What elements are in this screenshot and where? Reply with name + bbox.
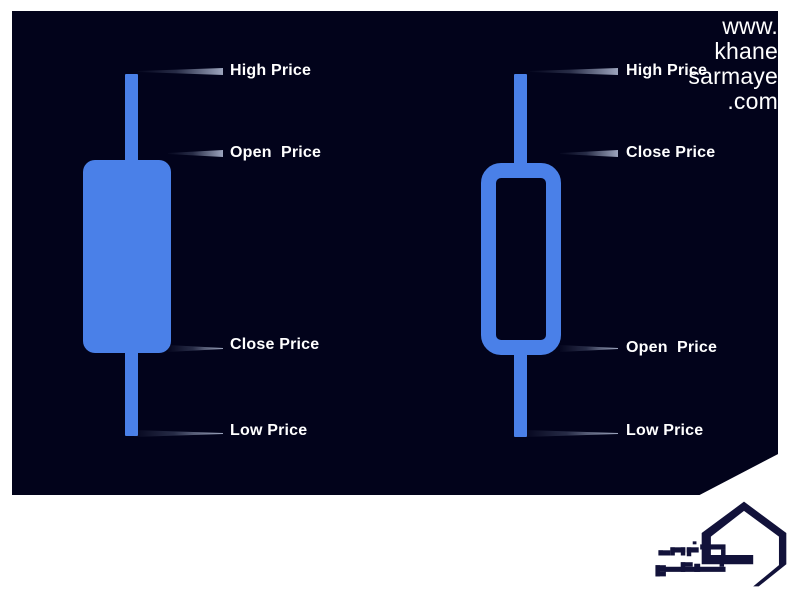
bullish-body <box>83 160 171 353</box>
label-open-price-right: Open Price <box>626 340 717 356</box>
bearish-body <box>481 163 561 355</box>
label-open-price-left: Open Price <box>230 145 321 161</box>
bearish-upper-wick <box>514 74 527 170</box>
watermark-line-4: .com <box>688 89 778 114</box>
label-low-price-right: Low Price <box>626 423 703 439</box>
label-close-price-left: Close Price <box>230 337 319 353</box>
watermark-line-3: sarmaye <box>688 64 778 89</box>
bullish-lower-wick <box>125 348 138 436</box>
brand-wordmark-persian <box>648 528 730 586</box>
watermark-line-1: www. <box>688 14 778 39</box>
label-close-price-right: Close Price <box>626 145 715 161</box>
bearish-lower-wick <box>514 348 527 437</box>
bullish-upper-wick <box>125 74 138 166</box>
watermark-line-2: khane <box>688 39 778 64</box>
label-high-price-left: High Price <box>230 63 311 79</box>
brand-logo <box>648 498 792 590</box>
label-low-price-left: Low Price <box>230 423 307 439</box>
diagram-canvas: High Price Open Price Close Price Low Pr… <box>0 0 800 600</box>
site-watermark: www. khane sarmaye .com <box>688 14 778 114</box>
